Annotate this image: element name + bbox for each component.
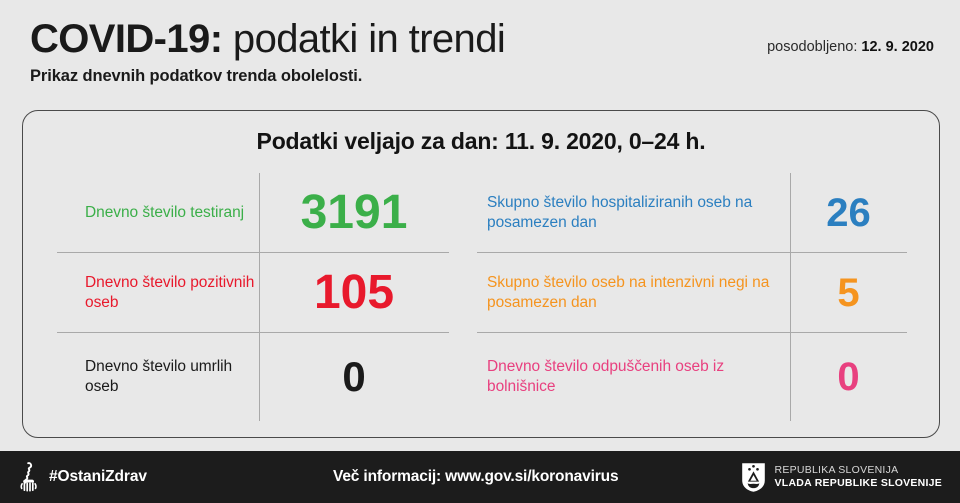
stat-label: Dnevno število pozitivnih oseb: [57, 273, 259, 313]
stat-label: Dnevno število testiranj: [57, 203, 259, 223]
stat-row-daily-positive: Dnevno število pozitivnih oseb 105: [57, 253, 449, 333]
government-logo-group: REPUBLIKA SLOVENIJA VLADA REPUBLIKE SLOV…: [741, 462, 942, 493]
last-updated-date: 12. 9. 2020: [861, 39, 934, 55]
government-line-1: REPUBLIKA SLOVENIJA: [775, 464, 942, 477]
stats-column-left: Dnevno število testiranj 3191 Dnevno šte…: [57, 173, 449, 421]
page-footer: #OstaniZdrav Več informacij: www.gov.si/…: [0, 451, 960, 503]
title-block: COVID-19: podatki in trendi Prikaz dnevn…: [30, 16, 505, 86]
stat-value: 0: [259, 356, 449, 398]
stat-label: Skupno število oseb na intenzivni negi n…: [477, 273, 790, 313]
card-title: Podatki veljajo za dan: 11. 9. 2020, 0–2…: [23, 128, 939, 155]
stat-label: Dnevno število umrlih oseb: [57, 357, 259, 397]
stat-value: 0: [790, 357, 907, 397]
stat-row-daily-deaths: Dnevno število umrlih oseb 0: [57, 333, 449, 421]
stat-row-intensive-care: Skupno število oseb na intenzivni negi n…: [477, 253, 907, 333]
handwashing-icon: [18, 462, 40, 492]
government-name: REPUBLIKA SLOVENIJA VLADA REPUBLIKE SLOV…: [775, 464, 942, 490]
stat-value: 5: [790, 273, 907, 313]
last-updated-label: posodobljeno:: [767, 39, 861, 55]
stats-column-right: Skupno število hospitaliziranih oseb na …: [477, 173, 907, 421]
stat-value: 105: [259, 269, 449, 317]
stat-row-discharged: Dnevno število odpuščenih oseb iz bolniš…: [477, 333, 907, 421]
last-updated: posodobljeno: 12. 9. 2020: [767, 39, 934, 55]
more-info-link[interactable]: Več informacij: www.gov.si/koronavirus: [333, 468, 618, 486]
government-line-2: VLADA REPUBLIKE SLOVENIJE: [775, 477, 942, 490]
page-subtitle: Prikaz dnevnih podatkov trenda obolelost…: [30, 67, 505, 86]
slovenia-coat-of-arms-icon: [741, 462, 766, 493]
stat-label: Skupno število hospitaliziranih oseb na …: [477, 193, 790, 233]
data-card: Podatki veljajo za dan: 11. 9. 2020, 0–2…: [22, 110, 940, 438]
stat-value: 26: [790, 193, 907, 233]
page-header: COVID-19: podatki in trendi Prikaz dnevn…: [0, 0, 960, 105]
hashtag-label: #OstaniZdrav: [49, 468, 147, 486]
page-title-strong: COVID-19:: [30, 17, 222, 61]
hashtag-group: #OstaniZdrav: [18, 462, 147, 492]
stat-row-hospitalized: Skupno število hospitaliziranih oseb na …: [477, 173, 907, 253]
stat-label: Dnevno število odpuščenih oseb iz bolniš…: [477, 357, 790, 397]
page-title-light: podatki in trendi: [222, 17, 505, 61]
stat-row-daily-tests: Dnevno število testiranj 3191: [57, 173, 449, 253]
stat-value: 3191: [259, 189, 449, 237]
stats-grid: Dnevno število testiranj 3191 Dnevno šte…: [57, 173, 907, 421]
page-title: COVID-19: podatki in trendi: [30, 16, 505, 62]
